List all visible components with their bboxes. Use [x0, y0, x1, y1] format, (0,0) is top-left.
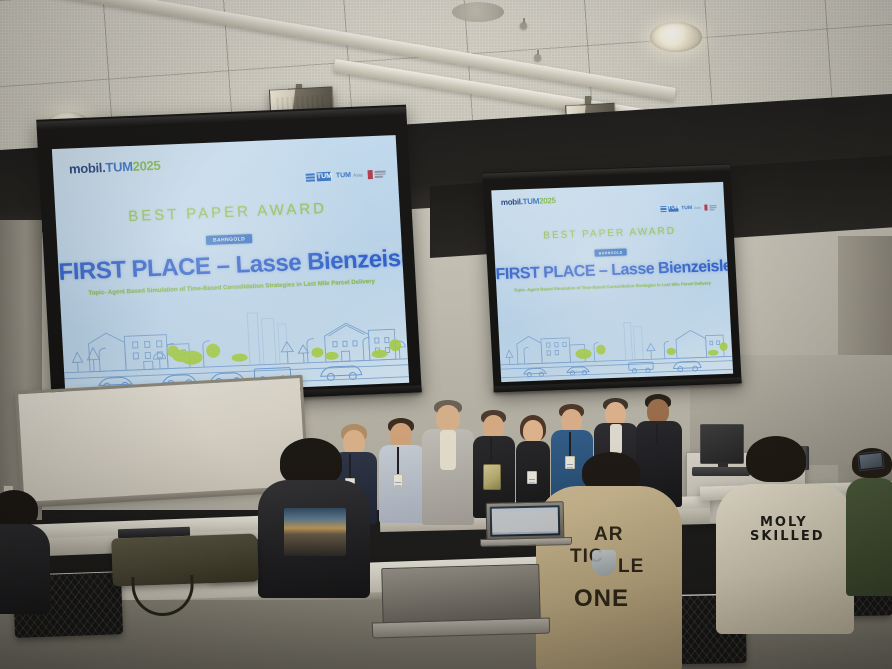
logo-part-mobil: mobil. [501, 197, 523, 207]
tum-asia-main: TUM [681, 205, 692, 211]
tum-asia-sub: Asia [694, 206, 701, 210]
partner-lines-icon [375, 171, 386, 178]
lectern-monitor[interactable] [700, 424, 744, 464]
badge [393, 474, 403, 487]
phone-screen [859, 453, 882, 469]
shirt-text-line-3: LE [618, 558, 644, 576]
slide-left: mobil.TUM2025 TUM TUM Asia [52, 135, 409, 397]
sprinkler-head [534, 54, 541, 61]
city-illustration [498, 312, 733, 382]
laptop-screen [490, 505, 561, 536]
laptop-screen-content [492, 507, 559, 534]
laptop-foreground-lid[interactable] [381, 564, 541, 626]
logo-part-tum: TUM [522, 197, 539, 207]
smartphone[interactable] [857, 451, 885, 472]
mobiltum-logo: mobil.TUM2025 [501, 196, 556, 207]
award-trophy [483, 464, 501, 490]
mobiltum-logo: mobil.TUM2025 [69, 158, 161, 177]
tum-bars-icon [306, 173, 315, 181]
logo-part-year: 2025 [539, 196, 556, 206]
partner-mark-icon [704, 205, 708, 211]
logo-part-tum: TUM [105, 159, 133, 175]
badge [527, 471, 537, 484]
lanyard [490, 438, 492, 462]
shirt-text-line-2: SKILLED [750, 530, 825, 543]
projection-screen-left: mobil.TUM2025 TUM TUM Asia [36, 105, 422, 408]
partner-logo [704, 204, 717, 210]
partner-lines-icon [709, 205, 716, 210]
badge [565, 456, 575, 469]
shirt [440, 430, 456, 470]
logo-part-mobil: mobil. [69, 160, 106, 176]
sprinkler-head [520, 22, 527, 29]
head [523, 420, 543, 443]
shirt-text-line-1: AR [594, 526, 623, 544]
downlight [650, 22, 702, 52]
tum-bars-icon [660, 206, 666, 212]
tum-box-icon: TUM [668, 206, 678, 212]
sponsor-badge: BAHNGOLD [594, 248, 626, 256]
torso [716, 484, 854, 634]
award-heading: BEST PAPER AWARD [55, 197, 400, 228]
partner-logo [367, 170, 385, 180]
head [436, 405, 460, 432]
projection-screen-right: mobil.TUM2025 TUM TUM Asia [482, 164, 741, 393]
lectern-keyboard[interactable] [692, 467, 750, 476]
shirt-graphic-print [284, 508, 346, 556]
org-logo-row: TUM TUM Asia [306, 170, 386, 182]
tum-asia-logo: TUM Asia [336, 171, 363, 179]
torso [846, 478, 892, 596]
shirt-text-line-1: MOLY [760, 516, 808, 529]
logo-part-year: 2025 [132, 158, 161, 174]
tum-asia-sub: Asia [353, 172, 363, 178]
lanyard [656, 423, 658, 445]
hair [746, 436, 806, 482]
org-logo-row: TUM TUM Asia [660, 204, 716, 212]
lanyard [397, 447, 399, 475]
lanyard [349, 454, 351, 480]
slide-right: mobil.TUM2025 TUM TUM Asia [491, 182, 733, 382]
shirt [610, 424, 622, 454]
tum-logo: TUM [306, 172, 331, 182]
award-heading: BEST PAPER AWARD [493, 224, 725, 243]
tum-box-icon: TUM [317, 172, 331, 182]
tum-asia-logo: TUM Asia [681, 205, 701, 212]
shirt-text-line-4: ONE [574, 588, 629, 611]
torso [0, 524, 50, 614]
lecture-hall-scene: mobil.TUM2025 TUM TUM Asia [0, 0, 892, 669]
lanyard [569, 432, 571, 456]
laptop-mid-lid[interactable] [486, 501, 565, 541]
ceiling-vent [452, 2, 504, 22]
hair [280, 438, 342, 486]
whiteboard [15, 375, 309, 506]
partner-mark-icon [367, 170, 372, 179]
tum-asia-main: TUM [336, 172, 352, 180]
shirt-emblem [592, 550, 616, 576]
sponsor-badge: BAHNGOLD [206, 234, 252, 245]
tum-logo: TUM [660, 206, 678, 213]
